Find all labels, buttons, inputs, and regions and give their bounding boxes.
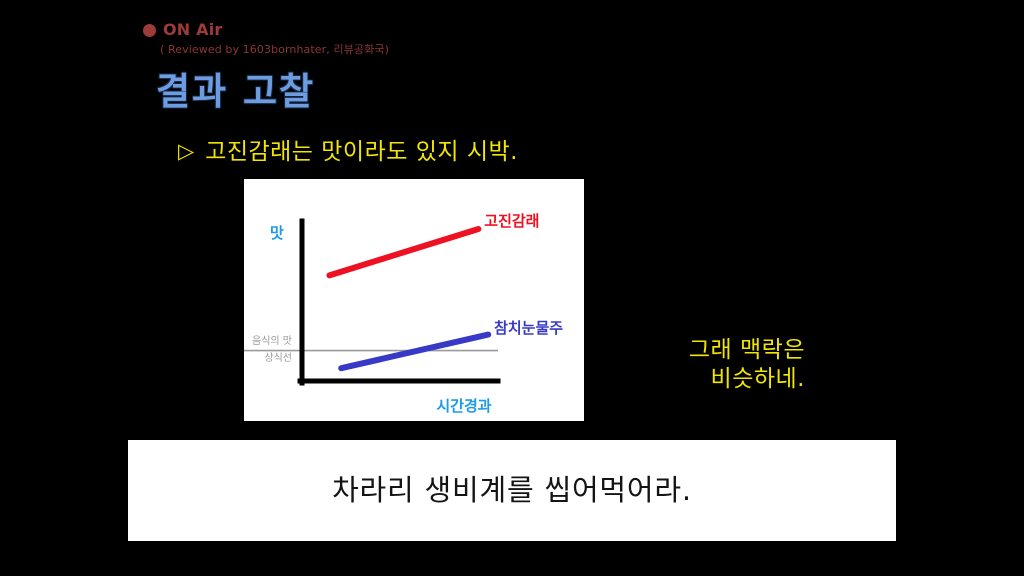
slide-canvas: ON Air ( Reviewed by 1603bornhater, 리뷰공화… bbox=[0, 0, 1024, 576]
page-title: 결과 고찰 bbox=[156, 72, 315, 113]
chart-panel: 고진감래 참치눈물주 음식의 맛 상식선 맛 시간경과 bbox=[244, 179, 584, 421]
subtitle-row: ▷ 고진감래는 맛이라도 있지 시박. bbox=[178, 141, 518, 164]
line-chart: 고진감래 참치눈물주 음식의 맛 상식선 맛 시간경과 bbox=[244, 179, 584, 421]
side-comment-line2: 비슷하네. bbox=[610, 365, 805, 394]
subtitle-text: 고진감래는 맛이라도 있지 시박. bbox=[205, 141, 518, 164]
record-dot-icon bbox=[143, 24, 156, 37]
series-line-blue bbox=[341, 335, 488, 369]
triangle-bullet-icon: ▷ bbox=[178, 141, 194, 162]
series-label-blue: 참치눈물주 bbox=[494, 319, 563, 337]
on-air-label: ON Air bbox=[163, 22, 223, 38]
side-comment: 그래 맥락은 비슷하네. bbox=[610, 336, 805, 395]
series-line-red bbox=[329, 229, 478, 275]
y-axis-label: 맛 bbox=[270, 224, 284, 242]
series-label-red: 고진감래 bbox=[484, 212, 539, 230]
reference-label-line1: 음식의 맛 bbox=[252, 335, 292, 347]
reviewed-by-line: ( Reviewed by 1603bornhater, 리뷰공화국) bbox=[160, 41, 389, 57]
on-air-badge: ON Air bbox=[143, 22, 223, 38]
caption-box: 차라리 생비계를 씹어먹어라. bbox=[128, 440, 896, 541]
caption-text: 차라리 생비계를 씹어먹어라. bbox=[332, 476, 692, 505]
side-comment-line1: 그래 맥락은 bbox=[610, 336, 805, 365]
x-axis-label: 시간경과 bbox=[436, 397, 491, 415]
reference-label-line2: 상식선 bbox=[264, 352, 292, 364]
